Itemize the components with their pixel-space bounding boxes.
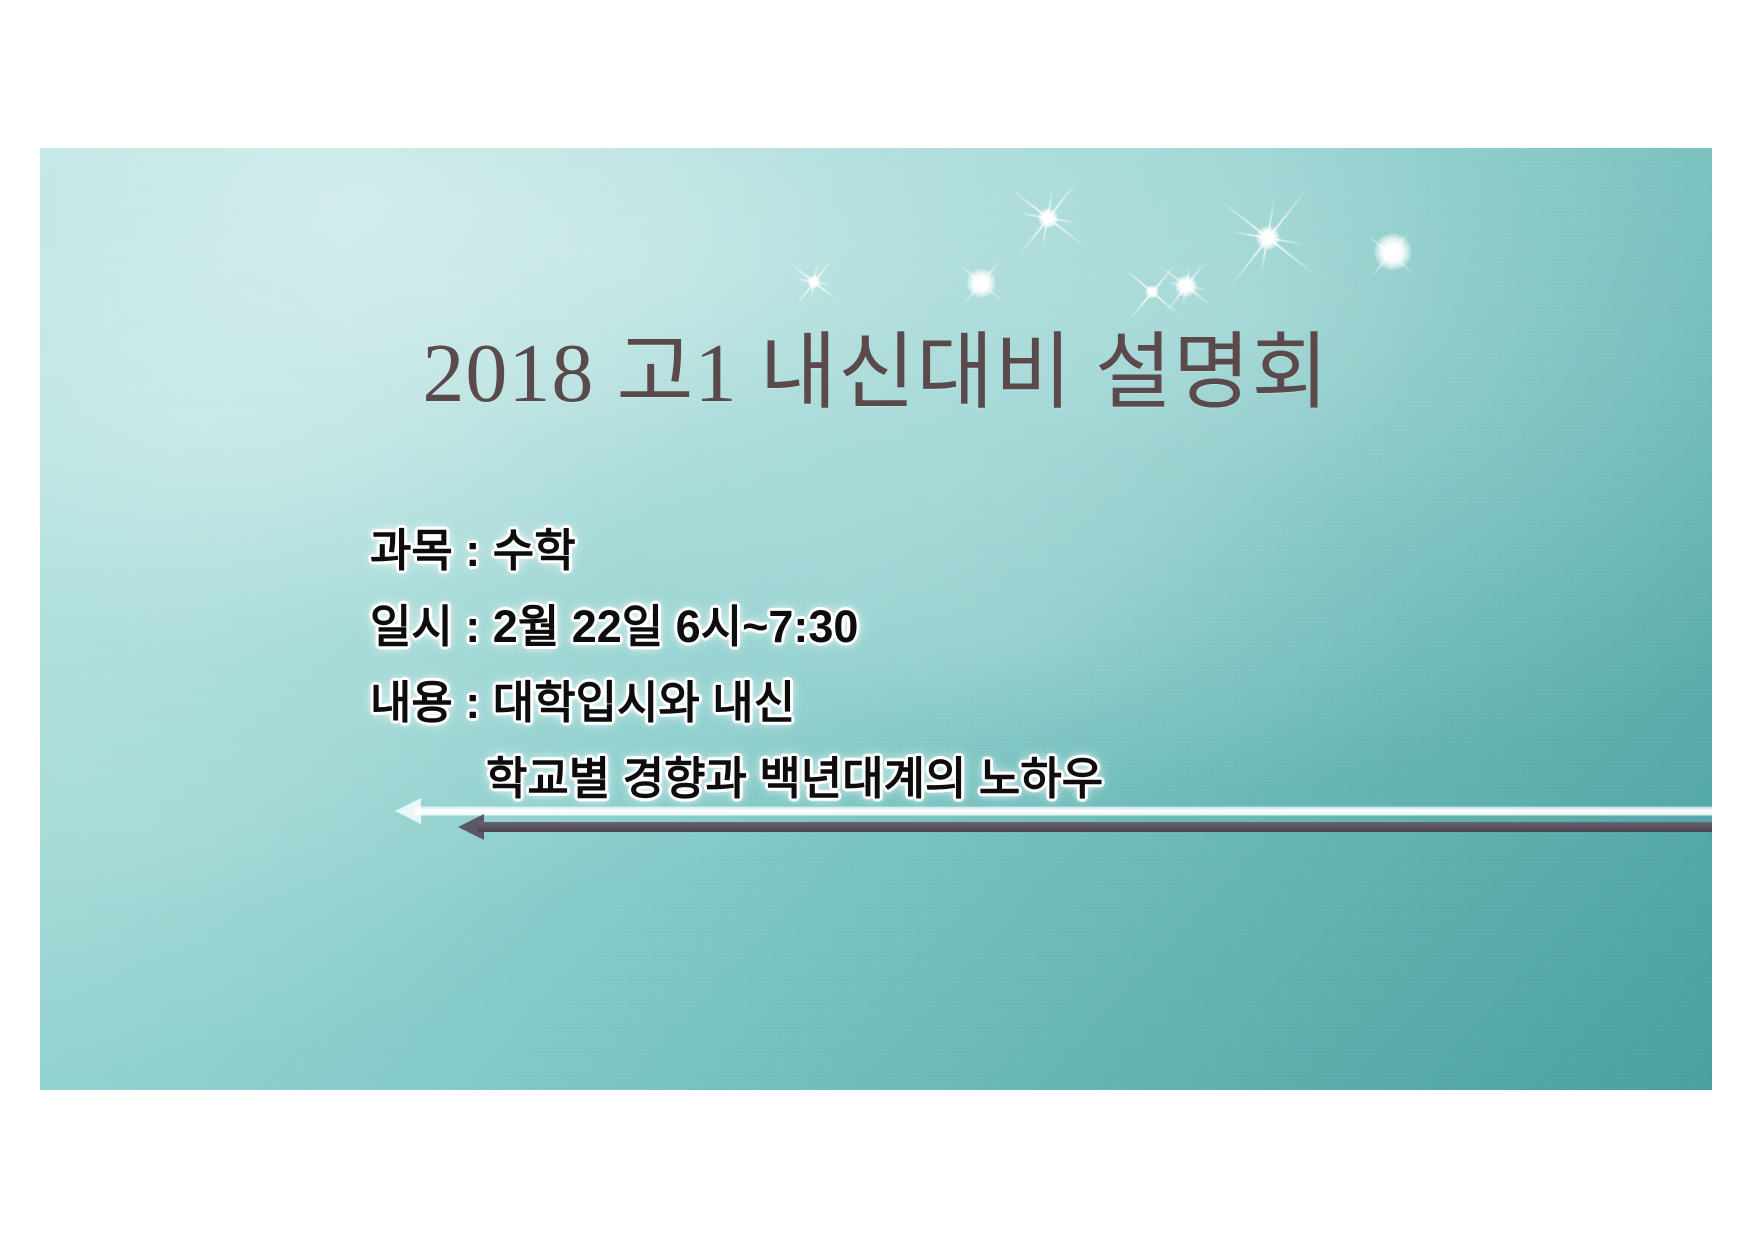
slide-title: 2018 고1 내신대비 설명회 bbox=[422, 330, 1329, 418]
sparkle-core bbox=[1175, 275, 1197, 297]
sparkle-ray bbox=[1182, 266, 1191, 307]
sparkle-ray bbox=[1127, 263, 1176, 321]
body-line-content: 내용 : 대학입시와 내신 bbox=[370, 680, 1550, 725]
sparkle-ray bbox=[1159, 265, 1212, 308]
sparkle-ray bbox=[789, 262, 839, 302]
slide-canvas: 2018 고1 내신대비 설명회 과목 : 수학 일시 : 2월 22일 6시~… bbox=[40, 148, 1712, 1090]
sparkle-ray bbox=[1018, 179, 1079, 256]
sparkle-core bbox=[807, 275, 820, 288]
sparkle-ray bbox=[1019, 212, 1078, 224]
sparkle-core bbox=[1382, 246, 1397, 261]
sparkle-ray bbox=[810, 263, 818, 301]
sparkle-core bbox=[1256, 226, 1280, 250]
body-line-subject: 과목 : 수학 bbox=[370, 528, 1550, 573]
sparkle-ray bbox=[1366, 234, 1413, 274]
sparkle-star-icon bbox=[1000, 170, 1096, 266]
left-arrow-light-head bbox=[395, 798, 421, 824]
sparkle-ray bbox=[1009, 188, 1086, 249]
sparkle-ray bbox=[794, 257, 834, 307]
sparkle-core bbox=[1038, 208, 1058, 228]
body-line-datetime: 일시 : 2월 22일 6시~7:30 bbox=[370, 604, 1550, 649]
sparkle-star-icon bbox=[1204, 174, 1332, 302]
sparkle-star-icon bbox=[952, 254, 1010, 312]
sparkle-ray bbox=[1229, 230, 1307, 245]
sparkle-ray bbox=[795, 278, 833, 286]
sparkle-ray bbox=[961, 260, 1000, 306]
sparkle-star-icon bbox=[783, 251, 845, 313]
sparkle-core bbox=[967, 269, 996, 298]
body-line-content-detail: 학교별 경향과 백년대계의 노하우 bbox=[370, 756, 1550, 801]
sparkle-star-icon bbox=[1115, 255, 1189, 329]
sparkle-core bbox=[1145, 285, 1158, 298]
left-arrow-dark-head bbox=[458, 814, 484, 840]
sparkle-ray bbox=[1260, 199, 1275, 277]
sparkle-star-icon bbox=[1371, 230, 1415, 274]
left-arrow-dark-icon bbox=[458, 814, 1712, 840]
sparkle-ray bbox=[1165, 259, 1208, 312]
sparkle-core bbox=[1374, 233, 1411, 270]
sparkle-ray bbox=[1166, 282, 1207, 291]
sparkle-star-icon bbox=[1153, 253, 1219, 319]
sparkle-ray bbox=[1123, 267, 1181, 316]
sparkle-ray bbox=[1228, 187, 1309, 289]
left-arrow-light-shaft bbox=[415, 807, 1712, 816]
title-block: 2018 고1 내신대비 설명회 bbox=[40, 330, 1712, 418]
sparkle-star-icon bbox=[1360, 224, 1420, 284]
sparkle-ray bbox=[1042, 189, 1054, 248]
sparkle-ray bbox=[1370, 230, 1410, 277]
left-arrow-dark-shaft bbox=[478, 822, 1712, 832]
body-text-block: 과목 : 수학 일시 : 2월 22일 6시~7:30 내용 : 대학입시와 내… bbox=[370, 528, 1550, 801]
sparkle-ray bbox=[1217, 198, 1319, 279]
sparkle-ray bbox=[958, 263, 1004, 302]
